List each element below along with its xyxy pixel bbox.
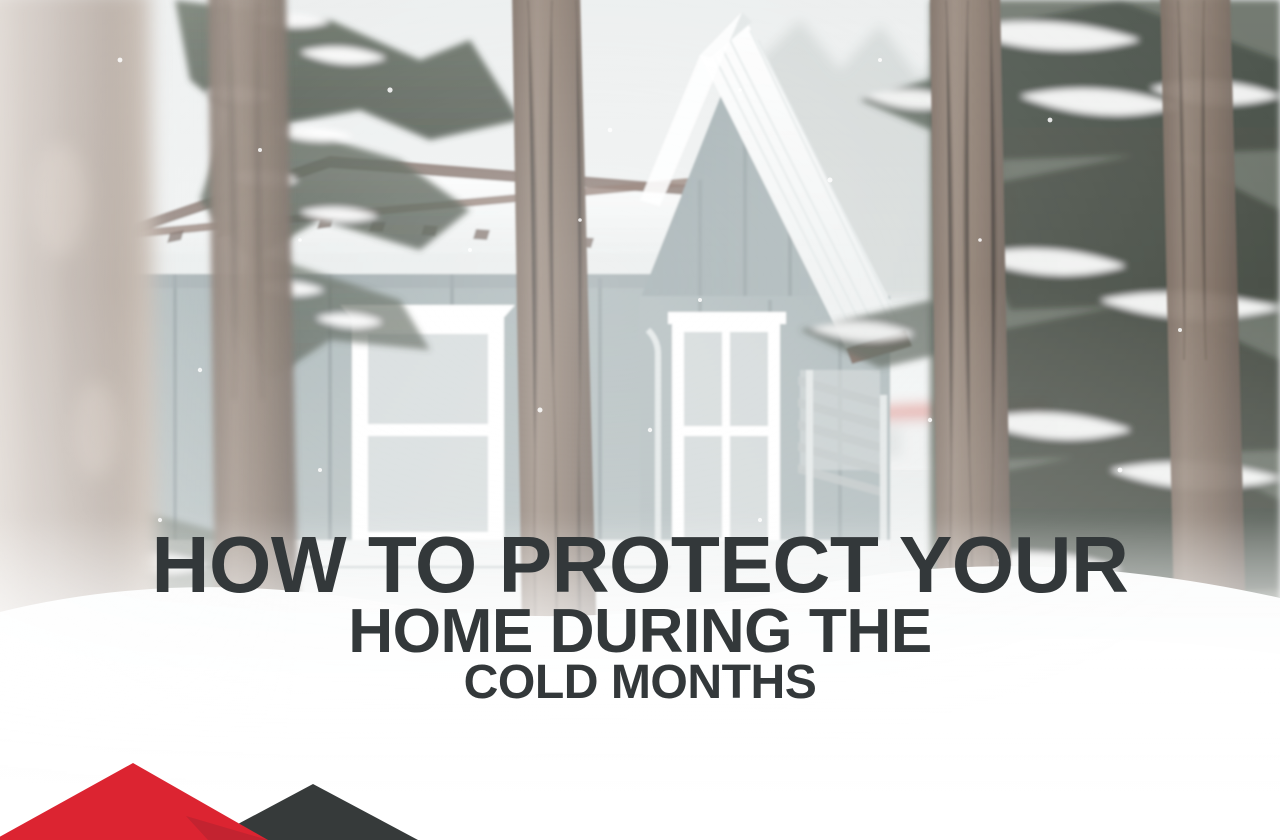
title-line-2: HOME DURING THE [0,603,1280,661]
cabin-window-right [668,312,786,550]
cabin-frieze [105,252,680,274]
title-line-1: HOW TO PROTECT YOUR [0,528,1280,603]
article-hero-banner: HOW TO PROTECT YOUR HOME DURING THE COLD… [0,0,1280,840]
page-title: HOW TO PROTECT YOUR HOME DURING THE COLD… [0,528,1280,705]
title-line-3: COLD MONTHS [0,660,1280,705]
roof-chevron-logo[interactable] [0,754,430,840]
winter-cabin-photo [0,0,1280,840]
